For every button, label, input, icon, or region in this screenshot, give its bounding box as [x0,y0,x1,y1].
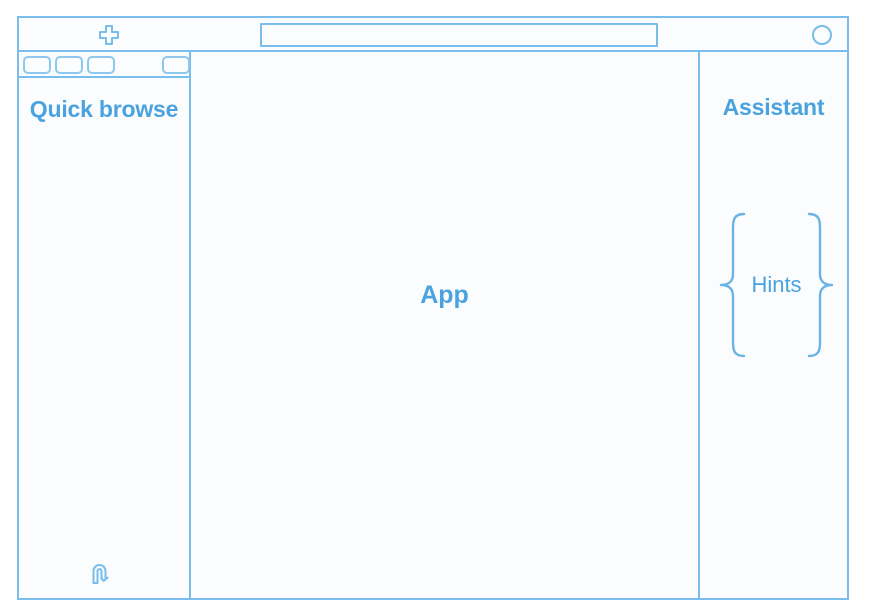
assistant-heading: Assistant [700,94,847,121]
sidebar-tab-4[interactable] [162,56,190,74]
sidebar-tab-2[interactable] [55,56,83,74]
sidebar-tab-3[interactable] [87,56,115,74]
search-input[interactable] [260,23,658,47]
top-bar [19,18,847,52]
assistant-panel: Assistant Hints [700,52,847,598]
body-row: Quick browse App Assistant [19,52,847,598]
u-turn-arrow-icon [85,558,115,588]
back-button[interactable] [85,558,115,588]
circle-avatar-icon [811,24,833,46]
window-frame: Quick browse App Assistant [17,16,849,600]
add-button[interactable] [96,23,122,47]
sidebar: Quick browse [19,52,191,598]
sidebar-tab-1[interactable] [23,56,51,74]
app-panel[interactable]: App [191,52,700,598]
sidebar-heading: Quick browse [19,94,189,124]
hints-label: Hints [714,272,839,298]
hints-block: Hints [714,212,839,358]
avatar[interactable] [811,24,833,46]
sidebar-tab-bar [19,52,189,78]
app-panel-label: App [420,281,469,310]
plus-icon [96,23,122,47]
sidebar-footer [19,554,189,598]
